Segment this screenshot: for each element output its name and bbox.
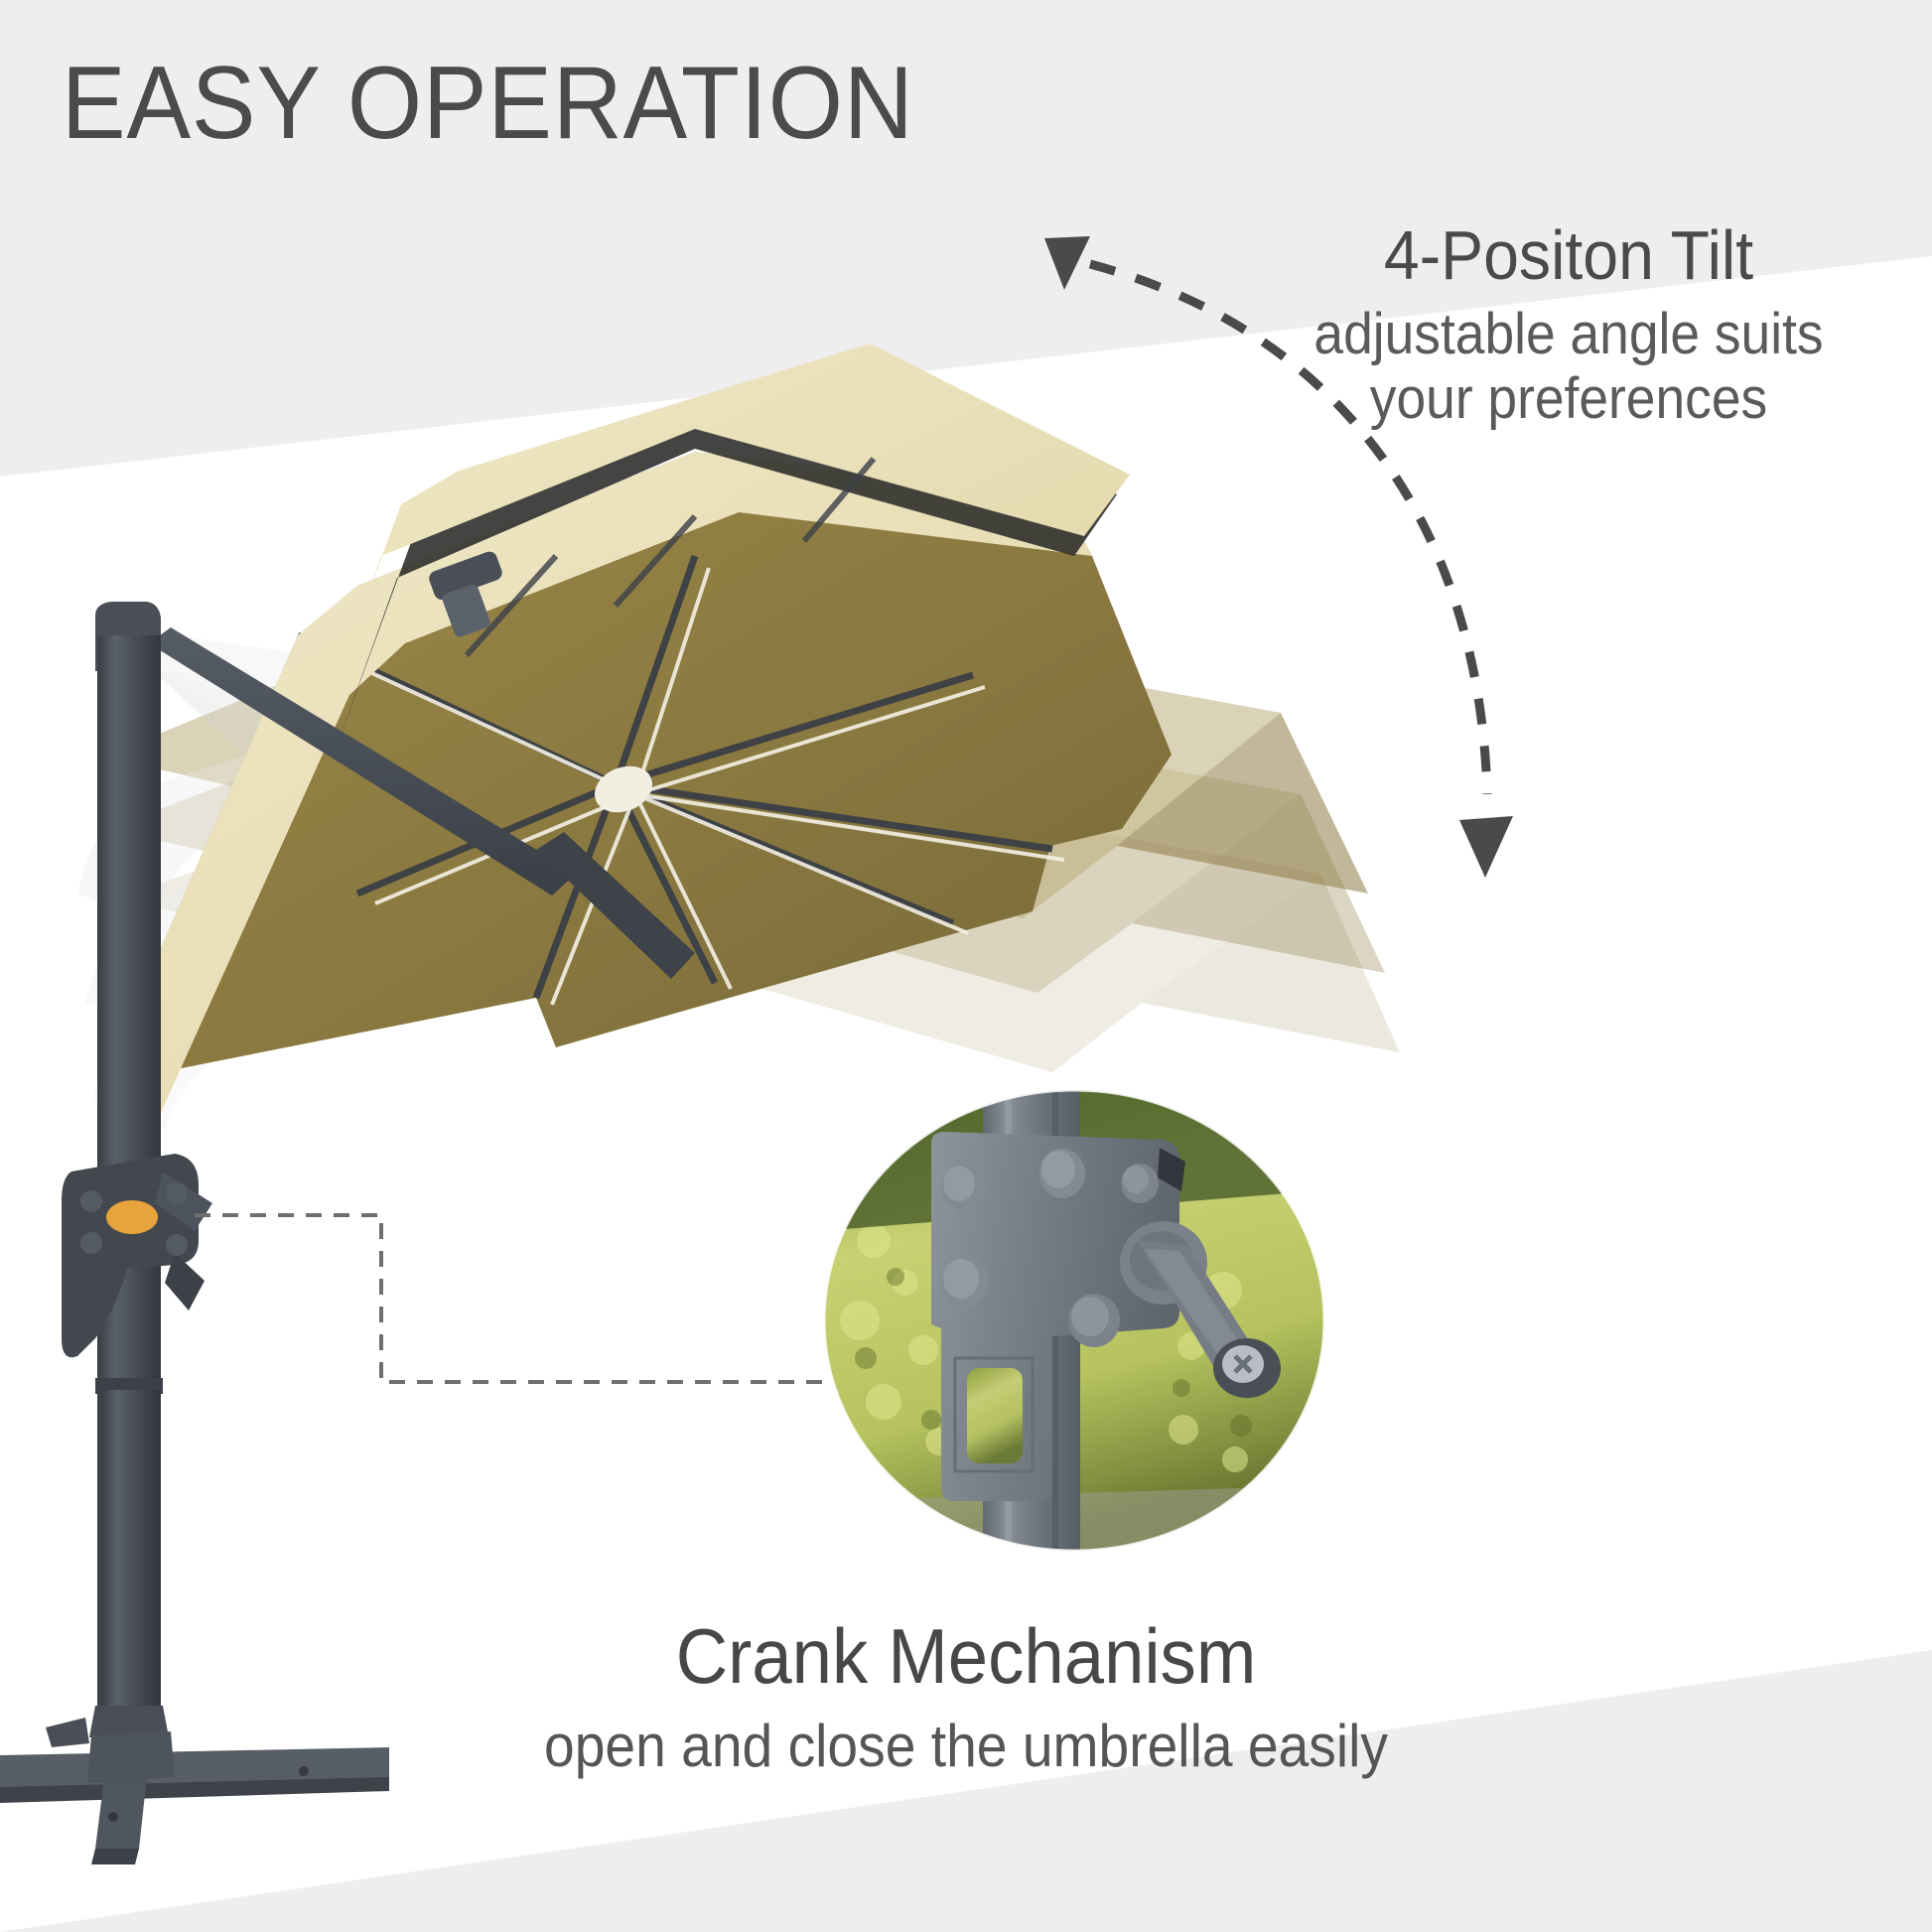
page-title: EASY OPERATION bbox=[62, 52, 914, 155]
tilt-arrow-end-icon bbox=[1459, 816, 1513, 878]
tilt-callout: 4-Positon Tilt adjustable angle suits yo… bbox=[1251, 220, 1886, 432]
tilt-arrow-start-icon bbox=[1044, 236, 1090, 290]
tilt-headline: 4-Positon Tilt bbox=[1277, 220, 1862, 291]
dashed-leader-line bbox=[195, 1215, 830, 1382]
tilt-subtext-line2: your preferences bbox=[1277, 367, 1862, 432]
crank-subtext: open and close the umbrella easily bbox=[77, 1714, 1855, 1779]
crank-headline: Crank Mechanism bbox=[68, 1616, 1864, 1698]
infographic-canvas: EASY OPERATION 4-Positon Tilt adjustable… bbox=[0, 0, 1932, 1932]
tilt-subtext-line1: adjustable angle suits bbox=[1277, 303, 1862, 367]
crank-callout: Crank Mechanism open and close the umbre… bbox=[0, 1616, 1932, 1779]
